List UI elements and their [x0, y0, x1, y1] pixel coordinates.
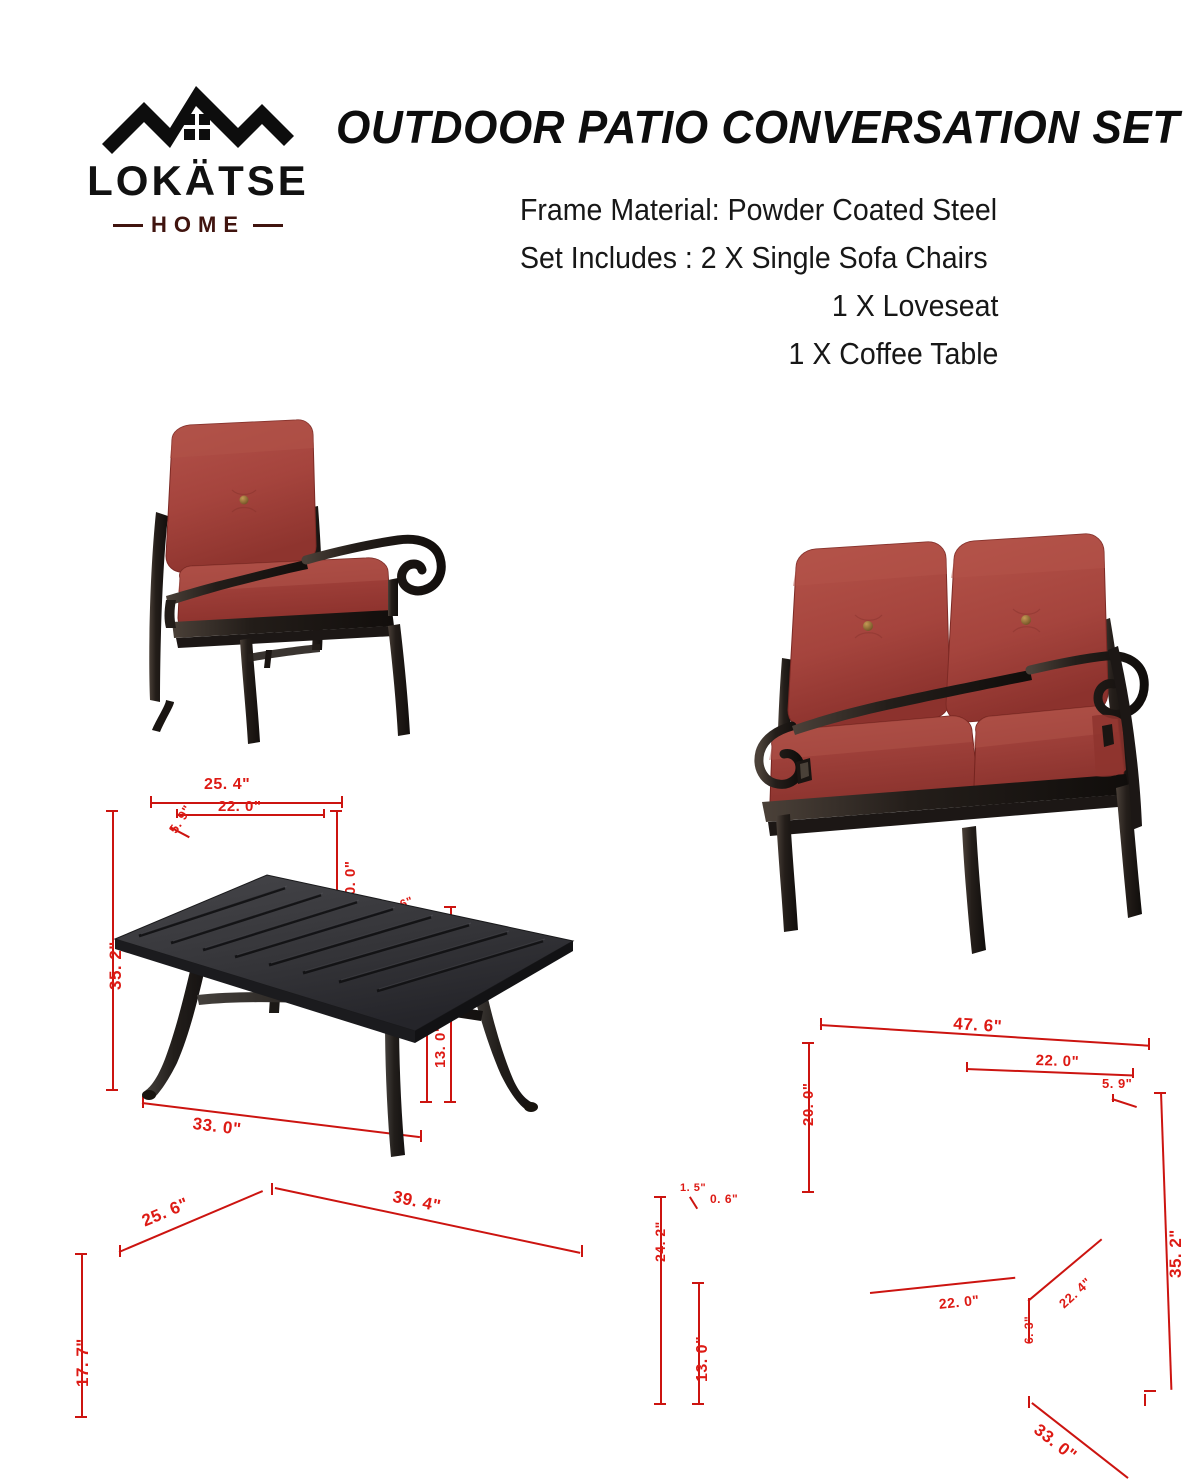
chair-dim-back-width: 22. 0" — [218, 798, 261, 815]
product-single-sofa-chair: 25. 4" 22. 0" 20. 0" 5. 9" 35. 2" 0. 6" … — [120, 400, 520, 780]
spec-line-loveseat: 1 X Loveseat — [520, 282, 1127, 330]
tagline-rule-right — [253, 224, 283, 227]
product-loveseat: 47. 6" 22. 0" 20. 0" 5. 9" 35. 2" 1. 5" — [650, 530, 1170, 1000]
brand-tagline: HOME — [151, 212, 245, 238]
loveseat-dim-overall-depth: 33. 0" — [1030, 1420, 1081, 1466]
roof-mountain-house-icon — [98, 78, 298, 156]
spec-line-coffee-table: 1 X Coffee Table — [520, 330, 1127, 378]
loveseat-dim-arm-thickness: 0. 6" — [710, 1192, 738, 1206]
brand-name: LOKÄTSE — [78, 160, 318, 202]
loveseat-dim-back-width: 22. 0" — [1035, 1052, 1079, 1071]
loveseat-dim-seat-height: 13. 0" — [694, 1336, 712, 1382]
loveseat-dim-seat-thickness: 6. 3" — [1022, 1316, 1036, 1344]
chair-dim-back-thickness: 5. 9" — [166, 802, 195, 836]
loveseat-dim-seat-width: 22. 0" — [938, 1292, 980, 1312]
table-dim-width: 39. 4" — [391, 1187, 443, 1217]
loveseat-dim-overall-height: 35. 2" — [1166, 1229, 1186, 1278]
loveseat-illustration — [650, 530, 1170, 1000]
table-dim-height: 17. 7" — [73, 1338, 93, 1387]
spec-line-set-includes: Set Includes : 2 X Single Sofa Chairs — [520, 234, 1127, 282]
single-sofa-chair-illustration — [120, 400, 520, 780]
loveseat-dim-back-height: 20. 0" — [800, 1083, 817, 1126]
loveseat-dim-arm-tip: 1. 5" — [680, 1182, 706, 1194]
loveseat-dim-overall-width: 47. 6" — [953, 1014, 1003, 1037]
spec-list: Frame Material: Powder Coated Steel Set … — [520, 186, 1127, 378]
coffee-table-illustration — [85, 845, 605, 1165]
product-coffee-table: 25. 6" 39. 4" 17. 7" — [85, 845, 605, 1165]
tagline-rule-left — [113, 224, 143, 227]
spec-line-frame-material: Frame Material: Powder Coated Steel — [520, 186, 1127, 234]
loveseat-dim-seat-depth: 22. 4" — [1056, 1275, 1094, 1312]
brand-logo: LOKÄTSE HOME — [78, 78, 318, 238]
brand-tagline-row: HOME — [78, 212, 318, 238]
page-title: OUTDOOR PATIO CONVERSATION SET — [336, 100, 1167, 154]
loveseat-dim-arm-height: 24. 2" — [652, 1221, 668, 1262]
infographic-canvas: LOKÄTSE HOME OUTDOOR PATIO CONVERSATION … — [0, 0, 1200, 1200]
loveseat-dim-back-thickness: 5. 9" — [1102, 1076, 1132, 1091]
